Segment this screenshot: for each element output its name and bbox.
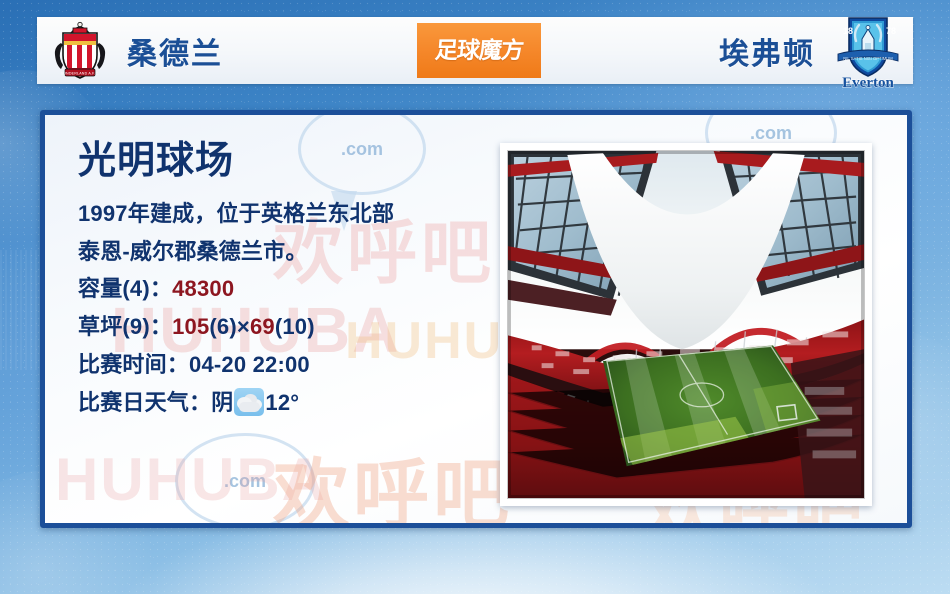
away-team-block[interactable]: 埃弗顿 18 78 — [541, 17, 913, 84]
match-header-bar: SUNDERLAND A.F.C. 桑德兰 足球魔方 埃弗顿 — [37, 17, 913, 84]
watermark-domain-bottom-left: .com — [175, 433, 315, 528]
watermark-bubble-bottom-left: .com — [175, 433, 315, 528]
match-time-row: 比赛时间：04-20 22:00 — [78, 346, 508, 384]
stadium-details: 光明球场 1997年建成，位于英格兰东北部 泰恩-威尔郡桑德兰市。 容量(4)：… — [78, 141, 508, 422]
site-logo-text: 足球魔方 — [434, 39, 524, 62]
svg-text:NIL SATIS NISI OPTIMUM: NIL SATIS NISI OPTIMUM — [843, 56, 893, 61]
home-team-name: 桑德兰 — [127, 29, 223, 73]
sunderland-crest-icon: SUNDERLAND A.F.C. — [51, 21, 109, 81]
pitch-length-rank: (6) — [209, 314, 237, 339]
watermark-brand-latin-2: HUHUBA — [55, 445, 327, 514]
svg-text:SUNDERLAND A.F.C.: SUNDERLAND A.F.C. — [61, 71, 100, 75]
svg-text:Everton: Everton — [842, 75, 894, 91]
watermark-brand-cn-2: 欢呼吧 — [273, 433, 513, 528]
weather-condition: 阴 — [211, 390, 233, 415]
pitch-size-row: 草坪(9)：105(6)×69(10) — [78, 308, 508, 346]
match-time-value: 04-20 22:00 — [189, 352, 310, 377]
weather-label: 比赛日天气： — [78, 390, 211, 415]
match-time-label: 比赛时间： — [78, 352, 189, 377]
away-team-name: 埃弗顿 — [719, 29, 815, 73]
capacity-value: 48300 — [172, 276, 234, 301]
home-team-block[interactable]: SUNDERLAND A.F.C. 桑德兰 — [37, 17, 417, 84]
stadium-info-card: .com .com .com HUHUBA HUHUBA HUHUBA 欢呼吧 … — [40, 110, 912, 528]
pitch-width-value: 69 — [250, 314, 275, 339]
stadium-photo-frame[interactable] — [500, 143, 872, 506]
weather-temperature: 12° — [265, 390, 299, 415]
site-logo[interactable]: 足球魔方 — [417, 23, 541, 78]
stadium-description-line-2: 泰恩-威尔郡桑德兰市。 — [78, 233, 508, 271]
watermark-bubble-tail-bottom-left — [211, 525, 237, 528]
svg-text:18: 18 — [843, 26, 853, 36]
stadium-description-line-1: 1997年建成，位于英格兰东北部 — [78, 195, 508, 233]
stadium-interior-photo[interactable] — [507, 150, 865, 499]
pitch-label: 草坪(9)： — [78, 314, 172, 339]
everton-crest-icon: 18 78 NIL SATIS NISI OPTIMUM Everton — [829, 10, 907, 92]
capacity-row: 容量(4)：48300 — [78, 270, 508, 308]
stadium-name-title: 光明球场 — [78, 141, 508, 183]
capacity-label: 容量(4)： — [78, 276, 172, 301]
svg-text:78: 78 — [886, 26, 896, 36]
pitch-length-value: 105 — [172, 314, 209, 339]
pitch-size-separator: × — [237, 314, 250, 339]
pitch-width-rank: (10) — [275, 314, 315, 339]
weather-row: 比赛日天气：阴12° — [78, 384, 508, 422]
page-background: SUNDERLAND A.F.C. 桑德兰 足球魔方 埃弗顿 — [0, 0, 950, 594]
cloudy-icon — [234, 388, 264, 416]
